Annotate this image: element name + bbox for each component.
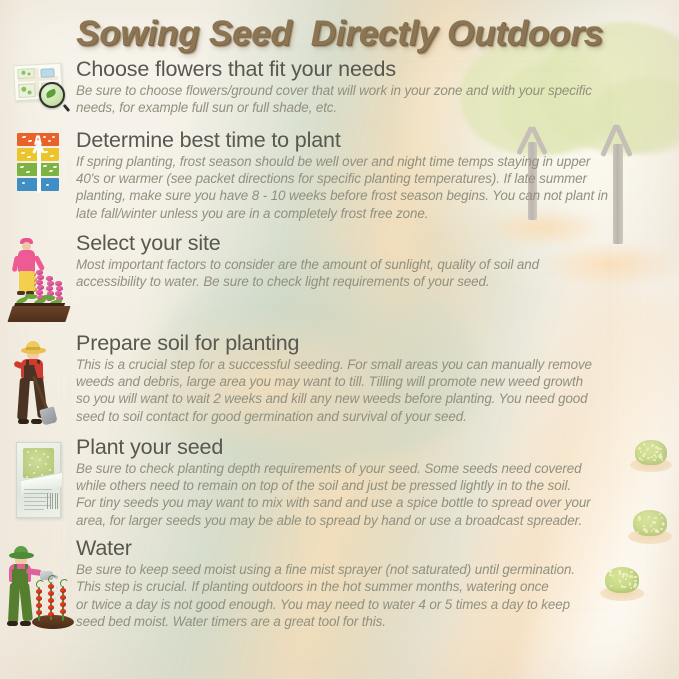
step-3-line-2: accessibility to water. Be sure to check… xyxy=(76,273,663,290)
gardener-watering-icon xyxy=(2,541,74,629)
step-3-icon-col xyxy=(0,232,76,322)
step-5-title: Plant your seed xyxy=(76,436,663,459)
step-4-line-3: so you will want to wait 2 weeks and kil… xyxy=(76,390,663,407)
gardener-with-flower-planter-icon xyxy=(6,236,70,322)
red-flower-stalk-2 xyxy=(50,582,52,620)
step-1-text: Choose flowers that fit your needs Be su… xyxy=(76,58,679,117)
step-6-line-3: or twice a day is not good enough. You m… xyxy=(76,596,663,613)
step-water: Water Be sure to keep seed moist using a… xyxy=(0,537,679,630)
garden-plan-magnifier-icon xyxy=(12,62,64,106)
magnifier-icon xyxy=(39,82,65,108)
gardener-figure xyxy=(14,238,40,296)
gardener-with-shovel-icon xyxy=(8,336,68,428)
red-flower-stalk-1 xyxy=(38,587,40,621)
flower-hook-1 xyxy=(36,580,45,589)
season-tree-overlay xyxy=(30,135,47,193)
step-2-line-1: If spring planting, frost season should … xyxy=(76,153,663,170)
flower-hook-2 xyxy=(48,575,57,584)
step-2-line-4: late fall/winter unless you are in a com… xyxy=(76,205,663,222)
step-1-line-2: needs, for example full sun or full shad… xyxy=(76,99,663,116)
waterer-shoe-right xyxy=(20,621,31,626)
step-1-line-1: Be sure to choose flowers/ground cover t… xyxy=(76,82,663,99)
gardener-shirt xyxy=(18,250,35,272)
step-2-title: Determine best time to plant xyxy=(76,129,663,152)
magnifier-handle xyxy=(63,104,70,112)
step-determine-time: Determine best time to plant If spring p… xyxy=(0,129,679,222)
step-2-body: If spring planting, frost season should … xyxy=(76,153,663,222)
digger-shoe-left xyxy=(18,419,29,424)
page-title: Sowing Seed Directly Outdoors xyxy=(0,14,679,54)
red-flower-stalk-3 xyxy=(62,586,64,621)
step-2-line-2: 40's or warmer (see packet directions fo… xyxy=(76,170,663,187)
step-5-body: Be sure to check planting depth requirem… xyxy=(76,460,663,529)
steps-list: Choose flowers that fit your needs Be su… xyxy=(0,58,679,630)
infographic-poster: Sowing Seed Directly Outdoors xyxy=(0,0,679,679)
four-seasons-calendar-icon xyxy=(17,133,59,195)
step-4-title: Prepare soil for planting xyxy=(76,332,663,355)
step-4-body: This is a crucial step for a successful … xyxy=(76,356,663,425)
step-1-body: Be sure to choose flowers/ground cover t… xyxy=(76,82,663,116)
step-5-line-2: while others need to remain on top of th… xyxy=(76,477,663,494)
step-4-line-1: This is a crucial step for a successful … xyxy=(76,356,663,373)
digger-shoe-right xyxy=(31,419,42,424)
step-1-title: Choose flowers that fit your needs xyxy=(76,58,663,81)
step-4-line-4: seed to soil contact for good germinatio… xyxy=(76,408,663,425)
step-6-title: Water xyxy=(76,537,663,560)
seed-packet-icon xyxy=(13,440,63,520)
step-2-line-3: planting, make sure you have 8 - 10 week… xyxy=(76,187,663,204)
step-3-text: Select your site Most important factors … xyxy=(76,232,679,291)
step-2-text: Determine best time to plant If spring p… xyxy=(76,129,679,222)
shovel-blade xyxy=(39,406,57,425)
step-2-icon-col xyxy=(0,129,76,195)
step-5-line-1: Be sure to check planting depth requirem… xyxy=(76,460,663,477)
waterer-shoe-left xyxy=(7,621,18,626)
step-6-line-4: seed bed moist. Water timers are a great… xyxy=(76,613,663,630)
step-5-text: Plant your seed Be sure to check plantin… xyxy=(76,436,679,529)
step-3-line-1: Most important factors to consider are t… xyxy=(76,256,663,273)
step-1-icon-col xyxy=(0,58,76,106)
step-5-line-4: area, for larger seeds you may be able t… xyxy=(76,512,663,529)
step-select-site: Select your site Most important factors … xyxy=(0,232,679,322)
waterer-legs xyxy=(9,583,33,625)
step-6-line-1: Be sure to keep seed moist using a fine … xyxy=(76,561,663,578)
step-6-text: Water Be sure to keep seed moist using a… xyxy=(76,537,679,630)
step-choose-flowers: Choose flowers that fit your needs Be su… xyxy=(0,58,679,117)
gardener-arm-right xyxy=(33,255,45,271)
step-6-line-2: This step is crucial. If planting outdoo… xyxy=(76,578,663,595)
step-3-title: Select your site xyxy=(76,232,663,255)
step-5-line-3: For tiny seeds you may want to mix with … xyxy=(76,494,663,511)
step-4-icon-col xyxy=(0,332,76,428)
step-6-icon-col xyxy=(0,537,76,629)
step-prepare-soil: Prepare soil for planting This is a cruc… xyxy=(0,332,679,428)
green-hat-brim xyxy=(9,552,34,559)
step-3-body: Most important factors to consider are t… xyxy=(76,256,663,290)
seed-packet-barcode xyxy=(47,493,59,509)
seed-packet-body xyxy=(16,442,61,518)
straw-hat-band xyxy=(26,347,40,350)
step-plant-seed: Plant your seed Be sure to check plantin… xyxy=(0,436,679,529)
step-6-body: Be sure to keep seed moist using a fine … xyxy=(76,561,663,630)
flower-hook-3 xyxy=(60,579,69,588)
planter-box xyxy=(7,306,70,322)
step-4-text: Prepare soil for planting This is a cruc… xyxy=(76,332,679,425)
gardener-pants xyxy=(19,271,34,293)
step-4-line-2: weeds and debris, large area you may wan… xyxy=(76,373,663,390)
step-5-icon-col xyxy=(0,436,76,520)
